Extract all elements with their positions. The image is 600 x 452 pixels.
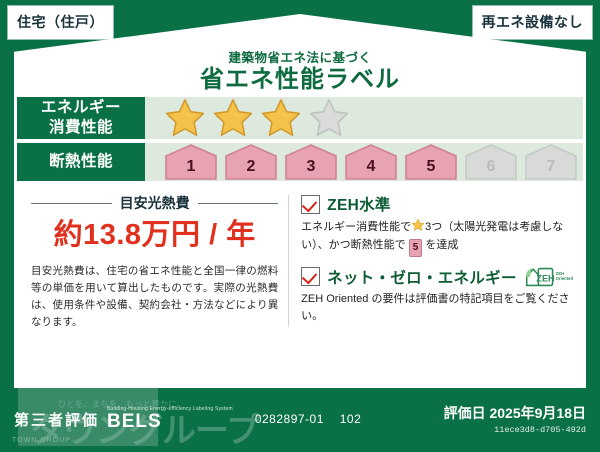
insulation-level-number: 3 bbox=[307, 158, 316, 181]
heading-rule-right bbox=[198, 203, 279, 204]
insulation-level-number: 4 bbox=[367, 158, 376, 181]
building-type-tag: 住宅（住戸） bbox=[8, 6, 113, 39]
zeh-section: ZEH水準 エネルギー消費性能で3つ（太陽光発電は考慮しない）、かつ断熱性能で … bbox=[289, 189, 583, 335]
insulation-level-6: 6 bbox=[463, 143, 519, 181]
label-title: 省エネ性能ラベル bbox=[200, 66, 400, 94]
evaluation-date-value: 2025年9月18日 bbox=[489, 405, 586, 421]
energy-label-root: 住宅（住戸） 再エネ設備なし 建築物省エネ法に基づく 省エネ性能ラベル エネルギ… bbox=[0, 0, 600, 450]
zeh-standard-title: ZEH水準 bbox=[327, 193, 391, 215]
zeh-netzero-title: ネット・ゼロ・エネルギー bbox=[327, 266, 517, 288]
insulation-level-number: 6 bbox=[487, 158, 496, 181]
evaluation-date: 評価日 2025年9月18日 bbox=[444, 403, 586, 423]
insulation-level-4: 4 bbox=[343, 143, 399, 181]
energy-label-line1: エネルギー bbox=[41, 98, 121, 118]
bels-logo: Building-Housing Energy-efficiency Label… bbox=[107, 407, 233, 431]
footer: 第三者評価 Building-Housing Energy-efficiency… bbox=[0, 388, 600, 450]
star-filled-icon bbox=[259, 97, 303, 139]
certificate-number: 0282897-01 102 bbox=[255, 412, 361, 426]
main-panel: エネルギー 消費性能 断熱性能 1234567 目安光熱費 bbox=[14, 94, 586, 388]
insulation-level-number: 2 bbox=[247, 158, 256, 181]
zeh-standard-description: エネルギー消費性能で3つ（太陽光発電は考慮しない）、かつ断熱性能で 5 を達成 bbox=[301, 218, 573, 257]
insulation-level-5: 5 bbox=[403, 143, 459, 181]
third-party-evaluation-label: 第三者評価 bbox=[14, 409, 99, 430]
insulation-level-number: 5 bbox=[427, 158, 436, 181]
checkmark-icon bbox=[301, 267, 320, 286]
heading-rule-left bbox=[31, 203, 112, 204]
insulation-performance-label: 断熱性能 bbox=[17, 143, 145, 181]
insulation-level-7: 7 bbox=[523, 143, 579, 181]
star-filled-icon bbox=[163, 97, 207, 139]
insulation-label-text: 断熱性能 bbox=[49, 152, 113, 172]
zeh-netzero-title-row: ネット・ゼロ・エネルギー ZEH ZEH Oriented bbox=[301, 266, 573, 288]
energy-performance-label: エネルギー 消費性能 bbox=[17, 97, 145, 139]
zeh-logo: ZEH ZEH Oriented bbox=[524, 266, 573, 288]
zeh-standard-block: ZEH水準 エネルギー消費性能で3つ（太陽光発電は考慮しない）、かつ断熱性能で … bbox=[301, 193, 573, 257]
energy-performance-row: エネルギー 消費性能 bbox=[17, 97, 583, 139]
insulation-level-2: 2 bbox=[223, 143, 279, 181]
zeh-desc-before-star: エネルギー消費性能で bbox=[301, 221, 411, 233]
zeh-house-icon: ZEH bbox=[524, 266, 554, 288]
bels-block: 第三者評価 Building-Housing Energy-efficiency… bbox=[14, 407, 361, 431]
energy-label-line2: 消費性能 bbox=[49, 118, 113, 138]
svg-text:ZEH: ZEH bbox=[536, 273, 554, 283]
zeh-desc-end: を達成 bbox=[425, 239, 458, 251]
unit-number: 102 bbox=[340, 412, 362, 426]
cert-no-value: 0282897-01 bbox=[255, 412, 324, 426]
insulation-performance-value: 1234567 bbox=[145, 143, 583, 181]
insulation-grade-badge: 5 bbox=[409, 239, 423, 257]
title-block: 建築物省エネ法に基づく 省エネ性能ラベル bbox=[14, 38, 586, 96]
star-icon bbox=[411, 218, 425, 232]
insulation-level-number: 7 bbox=[547, 158, 556, 181]
zeh-caption-line2: Oriented bbox=[556, 276, 573, 281]
utility-cost-heading-text: 目安光熱費 bbox=[120, 193, 190, 213]
zeh-netzero-description: ZEH Oriented の要件は評価書の特記項目をご覧ください。 bbox=[301, 291, 573, 326]
checkmark-icon bbox=[301, 195, 320, 214]
renewable-equipment-tag: 再エネ設備なし bbox=[473, 6, 593, 39]
star-filled-icon bbox=[211, 97, 255, 139]
insulation-level-scale: 1234567 bbox=[163, 143, 579, 181]
star-rating bbox=[163, 97, 351, 139]
evaluation-id: 11ece3d8-d705-492d bbox=[444, 425, 586, 435]
evaluation-date-label: 評価日 bbox=[444, 405, 486, 421]
label-subtitle: 建築物省エネ法に基づく bbox=[228, 52, 371, 65]
zeh-logo-caption: ZEH Oriented bbox=[556, 272, 573, 281]
utility-cost-section: 目安光熱費 約13.8万円 / 年 目安光熱費は、住宅の省エネ性能と全国一律の燃… bbox=[17, 189, 288, 335]
evaluation-info: 評価日 2025年9月18日 11ece3d8-d705-492d bbox=[444, 403, 586, 435]
energy-performance-value bbox=[145, 97, 583, 139]
insulation-level-number: 1 bbox=[187, 158, 196, 181]
lower-content: 目安光熱費 約13.8万円 / 年 目安光熱費は、住宅の省エネ性能と全国一律の燃… bbox=[17, 181, 583, 335]
utility-cost-note: 目安光熱費は、住宅の省エネ性能と全国一律の燃料等の単価を用いて算出したものです。… bbox=[31, 263, 278, 331]
bels-wordmark: BELS bbox=[107, 412, 233, 431]
zeh-netzero-block: ネット・ゼロ・エネルギー ZEH ZEH Oriented bbox=[301, 266, 573, 326]
insulation-level-3: 3 bbox=[283, 143, 339, 181]
insulation-level-1: 1 bbox=[163, 143, 219, 181]
star-empty-icon bbox=[307, 97, 351, 139]
utility-cost-value: 約13.8万円 / 年 bbox=[31, 217, 278, 253]
insulation-performance-row: 断熱性能 1234567 bbox=[17, 143, 583, 181]
utility-cost-heading: 目安光熱費 bbox=[31, 193, 278, 213]
footer-inner: 第三者評価 Building-Housing Energy-efficiency… bbox=[14, 394, 586, 444]
zeh-standard-title-row: ZEH水準 bbox=[301, 193, 573, 215]
